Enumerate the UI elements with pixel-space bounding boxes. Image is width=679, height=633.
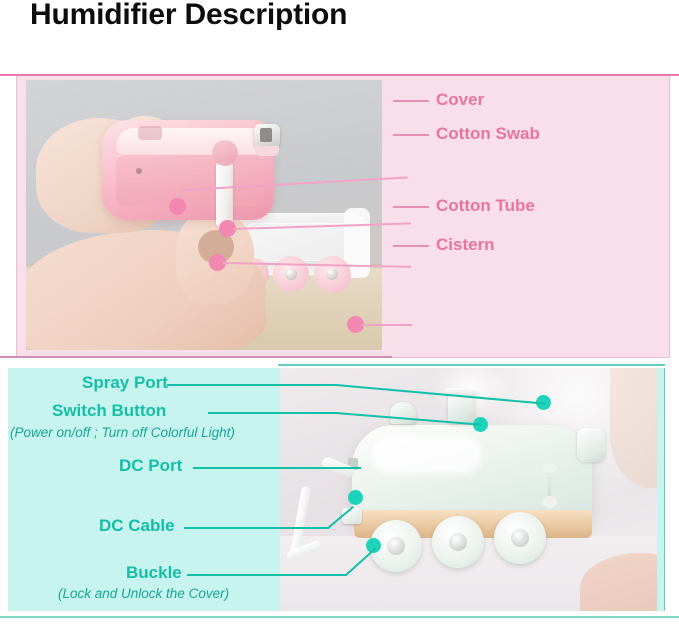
teal-leader-dc-port [193,467,361,469]
pink-annotation-panel [16,76,670,358]
pink-label-cotton-swab: Cotton Swab [436,124,540,144]
teal-leader-dc-cable [184,527,329,529]
pink-label-cistern: Cistern [436,235,495,255]
teal-callout-dot-dc-cable [348,490,363,505]
teal-label-dc-cable: DC Cable [99,516,175,536]
teal-leader-switch-button [208,412,337,414]
teal-label-switch-button: Switch Button [52,401,166,421]
page-title: Humidifier Description [30,0,347,32]
teal-label-buckle: Buckle [126,563,182,583]
teal-section-top-rule [278,364,665,366]
page-root: Humidifier Description [0,0,679,633]
teal-note-buckle: (Lock and Unlock the Cover) [58,586,229,601]
pink-product-photo [26,80,396,350]
pink-leader-cistern [393,245,429,247]
teal-leader-spray-port [167,384,337,386]
teal-section-bottom-rule [0,616,679,618]
pink-leader-cotton-swab [393,134,429,136]
pink-leader-cotton-tube [393,206,429,208]
pink-connector-cistern [362,324,412,326]
pink-leader-cover [393,100,429,102]
pink-section-bottom-rule [0,356,392,358]
pink-callout-dot-cover [169,198,186,215]
teal-label-spray-port: Spray Port [82,373,168,393]
teal-leader-buckle [187,574,347,576]
teal-note-switch-button: (Power on/off ; Turn off Colorful Light) [10,425,235,440]
teal-label-dc-port: DC Port [119,456,182,476]
pink-label-cotton-tube: Cotton Tube [436,196,535,216]
pink-label-cover: Cover [436,90,484,110]
